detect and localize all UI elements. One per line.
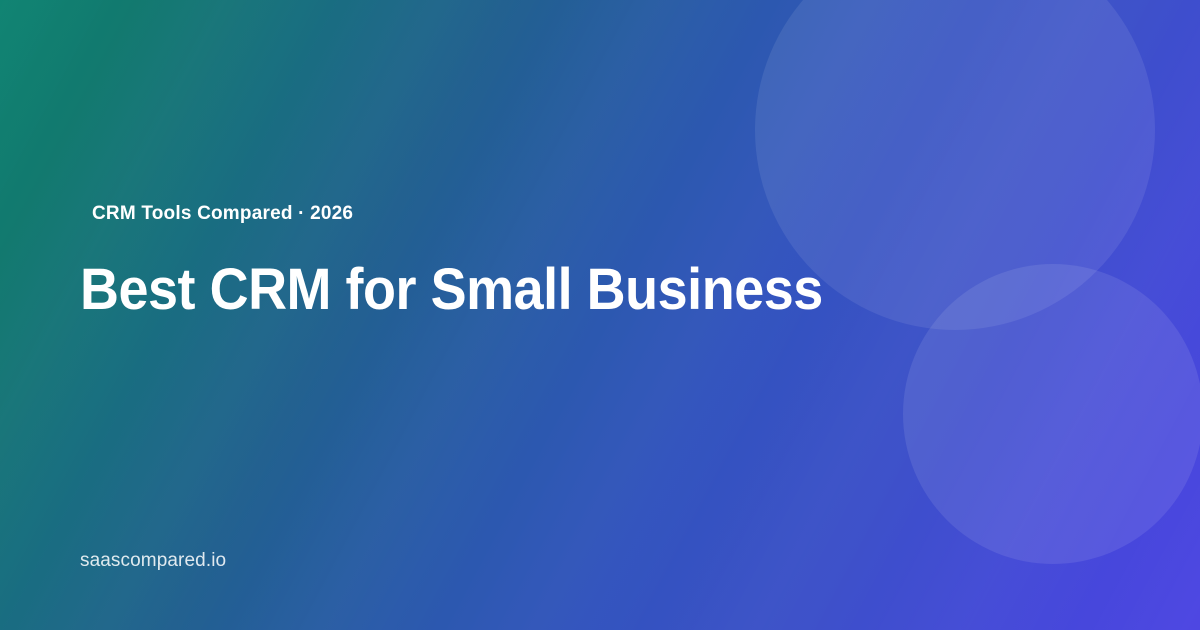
og-social-card: CRM Tools Compared · 2026 Best CRM for S…	[0, 0, 1200, 630]
page-title: Best CRM for Small Business	[80, 258, 787, 323]
card-content: CRM Tools Compared · 2026 Best CRM for S…	[0, 0, 1200, 630]
brand-domain: saascompared.io	[80, 549, 226, 574]
eyebrow-label: CRM Tools Compared · 2026	[92, 203, 353, 226]
